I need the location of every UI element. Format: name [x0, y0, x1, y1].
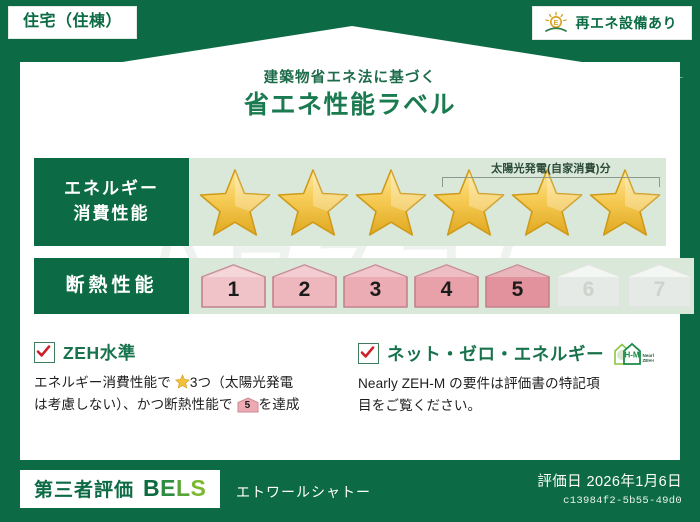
energy-row-label-line1: エネルギー: [64, 177, 159, 202]
insulation-grade-4: 4: [412, 263, 481, 309]
bels-letter-L: L: [176, 475, 191, 501]
svg-text:E: E: [553, 20, 558, 27]
note-zeh-header: ZEH水準: [34, 340, 342, 365]
energy-row-label-line2: 消費性能: [74, 202, 150, 227]
star-1: [197, 166, 273, 238]
zeh-note-title: ZEH水準: [63, 340, 136, 365]
evaluation-info: 評価日 2026年1月6日 c13984f2-5b55-49d0: [537, 470, 682, 507]
nze-note-line2: 目をご覧ください。: [358, 398, 481, 413]
insulation-grade-value: 6: [554, 263, 623, 309]
label-card: ハウスコム 建築物省エネ法に基づく 省エネ性能ラベル エネルギー 消費性能 太陽…: [20, 62, 680, 460]
notes-section: ZEH水準 エネルギー消費性能で 3つ（太陽光発電 は考慮しない）、かつ断熱性能…: [34, 340, 666, 417]
zeh-note-text-stars: 3つ（太陽光発電: [190, 375, 294, 390]
solar-generation-note: 太陽光発電(自家消費)分: [442, 160, 660, 187]
renewable-energy-badge: E 再エネ設備あり: [532, 6, 693, 40]
bels-letter-E: E: [160, 475, 176, 501]
energy-row-label: エネルギー 消費性能: [34, 158, 189, 246]
nze-note-body: Nearly ZEH-M の要件は評価書の特記項 目をご覧ください。: [358, 373, 666, 417]
bels-certification-box: 第三者評価 BELS: [20, 470, 220, 508]
insulation-grade-value: 4: [412, 263, 481, 309]
footer-band: 第三者評価 BELS エトワールシャトー 評価日 2026年1月6日 c1398…: [0, 460, 700, 522]
note-nze-header: ネット・ゼロ・エネルギー H-M Nearly ZEH-M: [358, 340, 666, 366]
zeh-m-logo-icon: H-M Nearly ZEH-M: [612, 340, 654, 366]
zeh-note-text-post: を達成: [259, 397, 300, 412]
energy-row-body: 太陽光発電(自家消費)分: [189, 158, 666, 246]
zeh-note-text-pre: エネルギー消費性能で: [34, 375, 171, 390]
note-zeh-standard: ZEH水準 エネルギー消費性能で 3つ（太陽光発電 は考慮しない）、かつ断熱性能…: [34, 340, 342, 417]
evaluation-date-value: 2026年1月6日: [587, 474, 683, 490]
star-2: [275, 166, 351, 238]
nze-note-title: ネット・ゼロ・エネルギー: [387, 341, 604, 366]
document-type-tag: 住宅（住棟）: [8, 6, 137, 39]
insulation-grade-scale: 1234567: [189, 263, 694, 309]
bels-letter-B: B: [143, 475, 160, 501]
evaluation-date: 評価日 2026年1月6日: [537, 470, 682, 491]
mini-house-badge: 5: [237, 397, 259, 413]
third-party-label: 第三者評価: [34, 475, 134, 502]
title-subtitle: 建築物省エネ法に基づく: [20, 70, 680, 87]
evaluation-date-label: 評価日: [537, 474, 582, 490]
star-3: [353, 166, 429, 238]
zeh-note-text-mid: は考慮しない）、かつ断熱性能で: [34, 397, 233, 412]
mini-star-icon: [175, 374, 190, 389]
insulation-grade-3: 3: [341, 263, 410, 309]
insulation-grade-value: 7: [625, 263, 694, 309]
insulation-grade-6: 6: [554, 263, 623, 309]
title-block: 建築物省エネ法に基づく 省エネ性能ラベル: [20, 70, 680, 120]
insulation-row-body: 1234567: [189, 258, 694, 314]
zeh-checkbox: [34, 342, 55, 363]
note-net-zero-energy: ネット・ゼロ・エネルギー H-M Nearly ZEH-M Nearly: [358, 340, 666, 417]
nze-checkbox: [358, 343, 379, 364]
bels-letter-S: S: [191, 475, 207, 501]
insulation-grade-7: 7: [625, 263, 694, 309]
check-icon: [36, 344, 51, 359]
property-owner-name: エトワールシャトー: [236, 482, 371, 502]
energy-performance-label: 住宅（住棟） E 再エネ設備あり ハウスコム 建築物省エネ法に基づく 省エネ性能…: [0, 0, 700, 522]
insulation-performance-row: 断熱性能 1234567: [34, 258, 666, 314]
zeh-note-body: エネルギー消費性能で 3つ（太陽光発電 は考慮しない）、かつ断熱性能で 5 を達…: [34, 372, 342, 416]
renewable-badge-label: 再エネ設備あり: [576, 13, 678, 33]
insulation-grade-2: 2: [270, 263, 339, 309]
insulation-grade-value: 2: [270, 263, 339, 309]
svg-text:ZEH-M: ZEH-M: [643, 358, 655, 363]
bels-wordmark: BELS: [143, 475, 206, 502]
energy-performance-row: エネルギー 消費性能 太陽光発電(自家消費)分: [34, 158, 666, 246]
insulation-grade-1: 1: [199, 263, 268, 309]
svg-text:H-M: H-M: [625, 351, 640, 360]
mini-house-value: 5: [237, 397, 259, 413]
insulation-grade-value: 1: [199, 263, 268, 309]
solar-note-bracket: [442, 177, 660, 187]
title-main: 省エネ性能ラベル: [20, 92, 680, 120]
check-icon: [360, 345, 375, 360]
sun-icon: E: [543, 11, 569, 35]
insulation-row-label: 断熱性能: [34, 258, 189, 314]
solar-note-caption: 太陽光発電(自家消費)分: [442, 160, 660, 176]
insulation-grade-value: 5: [483, 263, 552, 309]
insulation-grade-value: 3: [341, 263, 410, 309]
insulation-grade-5: 5: [483, 263, 552, 309]
document-type-label: 住宅（住棟）: [23, 13, 122, 30]
insulation-row-label-text: 断熱性能: [65, 275, 157, 298]
nze-note-line1: Nearly ZEH-M の要件は評価書の特記項: [358, 376, 600, 391]
evaluation-id: c13984f2-5b55-49d0: [537, 495, 682, 507]
